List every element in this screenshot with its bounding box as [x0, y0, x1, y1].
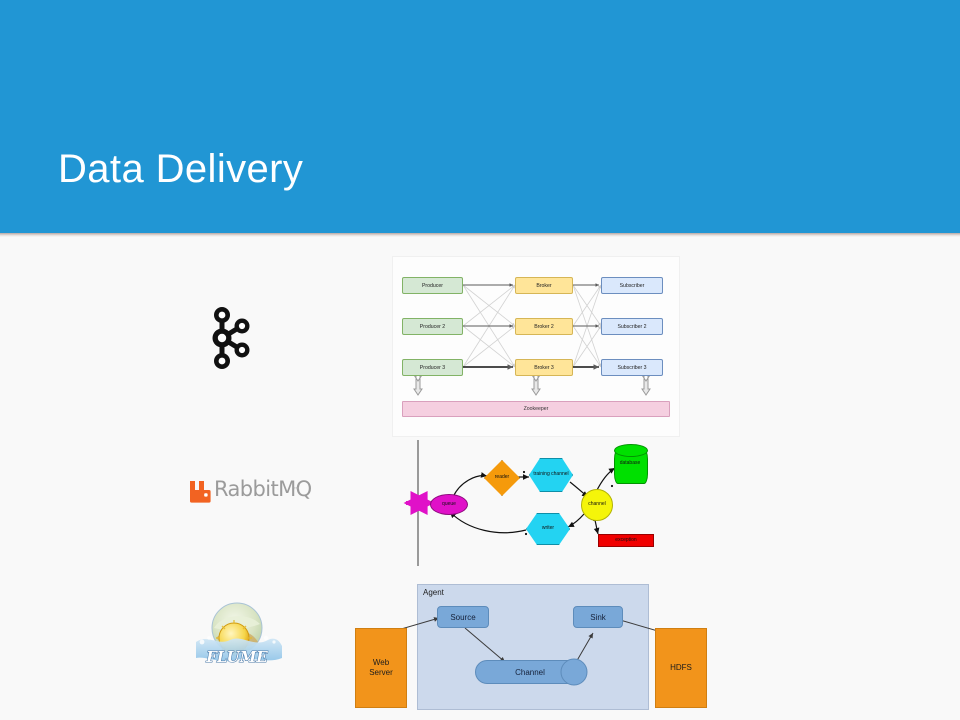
rabbitmq-database-cylinder: database — [614, 444, 646, 482]
rabbitmq-mark-icon — [188, 479, 212, 503]
rabbitmq-queue-node: queue — [430, 494, 468, 515]
flume-architecture-diagram: Agent Web Server Source Channel — [355, 578, 710, 710]
kafka-zookeeper-bar: Zookeeper — [402, 401, 670, 417]
flume-web-server-line2: Server — [369, 668, 393, 677]
rabbitmq-database-label: database — [614, 454, 646, 474]
kafka-subscriber-3: Subscriber 3 — [601, 359, 663, 376]
rabbitmq-flow-diagram: queue reader training channel writer cha… — [398, 438, 678, 568]
flume-sink-box: Sink — [573, 606, 623, 628]
slide-header-band — [0, 0, 960, 233]
kafka-subscriber-2: Subscriber 2 — [601, 318, 663, 335]
rabbitmq-exception-node: exception — [598, 534, 654, 547]
rabbitmq-trademark-symbol: ™ — [293, 487, 299, 493]
kafka-broker-2: Broker 2 — [515, 318, 573, 335]
kafka-producer-2: Producer 2 — [402, 318, 463, 335]
kafka-producer-1: Producer — [402, 277, 463, 294]
kafka-subscriber-1: Subscriber — [601, 277, 663, 294]
svg-text:FLUME: FLUME — [205, 648, 268, 666]
kafka-architecture-diagram: Producer Producer 2 Producer 3 Broker Br… — [393, 257, 679, 436]
rabbitmq-dispatcher-node: channel — [581, 489, 613, 521]
page-title: Data Delivery — [58, 145, 303, 193]
apache-kafka-logo — [200, 303, 260, 373]
flume-channel-end-cap — [560, 658, 590, 688]
rabbitmq-logo: RabbitMQ ™ — [188, 478, 303, 504]
apache-flume-logo: FLUME — [190, 598, 285, 670]
flume-hdfs-box: HDFS — [655, 628, 707, 708]
slide-canvas: Data Delivery — [0, 0, 960, 720]
header-bottom-shadow — [0, 233, 960, 237]
kafka-broker-3: Broker 3 — [515, 359, 573, 376]
flume-web-server-box: Web Server — [355, 628, 407, 708]
flume-source-box: Source — [437, 606, 489, 628]
kafka-broker-1: Broker — [515, 277, 573, 294]
kafka-producer-3: Producer 3 — [402, 359, 463, 376]
flume-web-server-line1: Web — [373, 658, 389, 667]
